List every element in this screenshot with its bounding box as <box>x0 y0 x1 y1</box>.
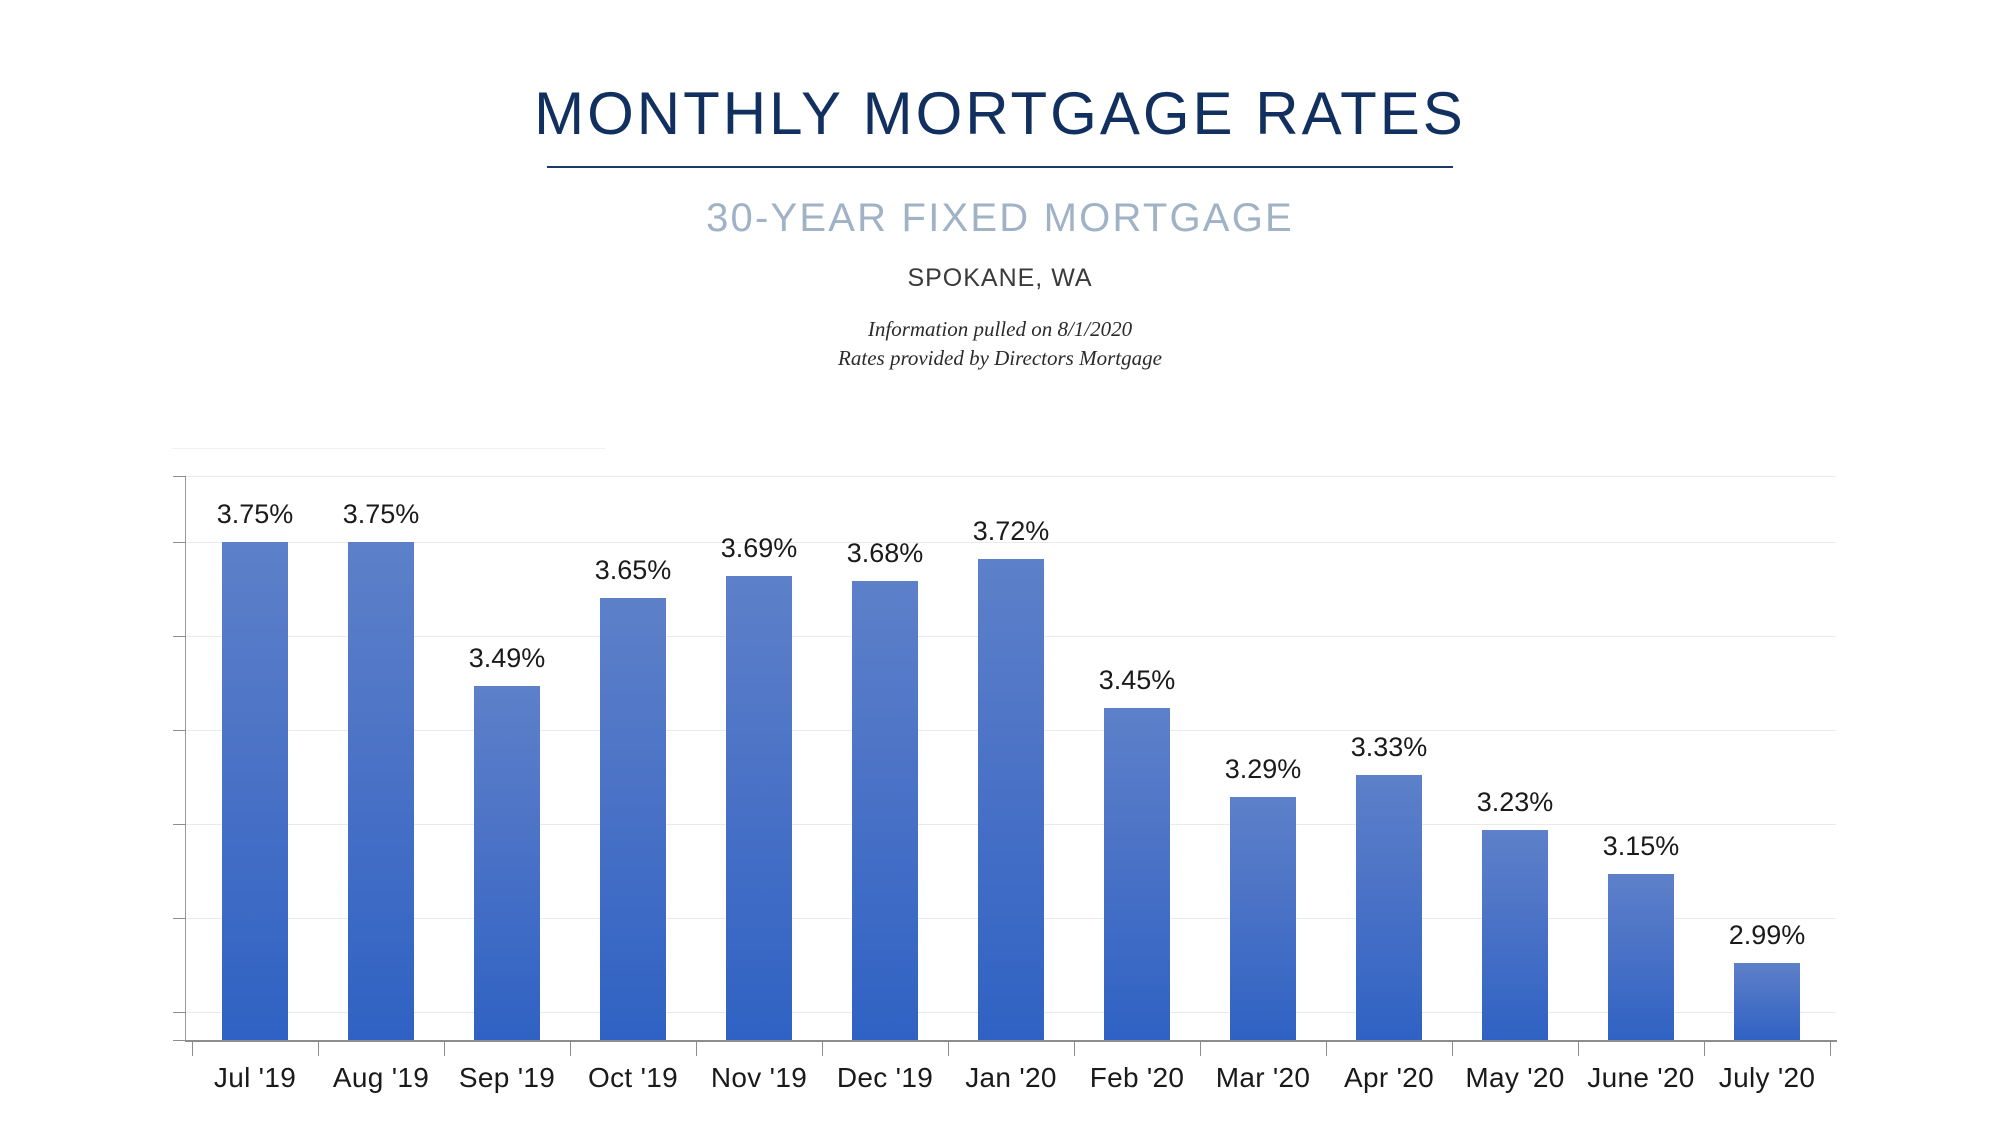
x-axis-tick <box>1452 1042 1453 1056</box>
x-axis-label: Apr '20 <box>1326 1062 1452 1094</box>
y-axis-tick <box>173 918 186 919</box>
bar-slot: 3.72% <box>948 476 1074 1040</box>
x-axis-label: Nov '19 <box>696 1062 822 1094</box>
bar-value-label: 3.45% <box>1099 665 1176 696</box>
bar-slot: 3.68% <box>822 476 948 1040</box>
x-axis-label: Mar '20 <box>1200 1062 1326 1094</box>
bar[interactable] <box>978 559 1044 1040</box>
bar[interactable] <box>348 542 414 1040</box>
location-label: SPOKANE, WA <box>0 266 2000 291</box>
y-axis-tick <box>173 1012 186 1013</box>
bar[interactable] <box>1482 830 1548 1040</box>
bar[interactable] <box>726 576 792 1040</box>
bar[interactable] <box>222 542 288 1040</box>
bar-slot: 3.29% <box>1200 476 1326 1040</box>
x-axis-tick <box>192 1042 193 1056</box>
x-axis-label: Jul '19 <box>192 1062 318 1094</box>
x-axis-tick <box>696 1042 697 1056</box>
x-axis-label: Feb '20 <box>1074 1062 1200 1094</box>
bar-value-label: 3.75% <box>217 499 294 530</box>
bar-value-label: 3.72% <box>973 516 1050 547</box>
bar[interactable] <box>1230 797 1296 1040</box>
bar[interactable] <box>474 686 540 1040</box>
x-axis-label: Jan '20 <box>948 1062 1074 1094</box>
bar-value-label: 3.69% <box>721 533 798 564</box>
decorative-rule <box>172 448 606 449</box>
x-axis-tick <box>444 1042 445 1056</box>
bar-value-label: 3.29% <box>1225 754 1302 785</box>
bar-slot: 3.75% <box>192 476 318 1040</box>
bar-value-label: 3.33% <box>1351 732 1428 763</box>
bar[interactable] <box>1608 874 1674 1040</box>
x-axis-label: Aug '19 <box>318 1062 444 1094</box>
bar-value-label: 3.75% <box>343 499 420 530</box>
x-axis-tick <box>1074 1042 1075 1056</box>
bar[interactable] <box>600 598 666 1040</box>
bar-slot: 3.75% <box>318 476 444 1040</box>
x-axis-label: July '20 <box>1704 1062 1830 1094</box>
source-note-block: Information pulled on 8/1/2020 Rates pro… <box>0 315 2000 373</box>
x-axis-labels: Jul '19Aug '19Sep '19Oct '19Nov '19Dec '… <box>186 1062 1836 1094</box>
page-title: MONTHLY MORTGAGE RATES <box>0 84 2000 144</box>
x-axis-tick <box>1830 1042 1831 1056</box>
x-axis-label: Sep '19 <box>444 1062 570 1094</box>
y-axis-tick <box>173 824 186 825</box>
bar-value-label: 3.65% <box>595 555 672 586</box>
x-axis-label: May '20 <box>1452 1062 1578 1094</box>
x-axis-tick <box>1200 1042 1201 1056</box>
bar-slot: 3.45% <box>1074 476 1200 1040</box>
bar-value-label: 3.15% <box>1603 831 1680 862</box>
bar[interactable] <box>1356 775 1422 1040</box>
bar-slot: 3.15% <box>1578 476 1704 1040</box>
bar-chart: 3.75%3.75%3.49%3.65%3.69%3.68%3.72%3.45%… <box>0 440 2000 1142</box>
x-axis-tick <box>570 1042 571 1056</box>
x-axis-label: Dec '19 <box>822 1062 948 1094</box>
bar[interactable] <box>852 581 918 1040</box>
x-axis-tick <box>1326 1042 1327 1056</box>
bar-slot: 3.33% <box>1326 476 1452 1040</box>
bar-value-label: 3.68% <box>847 538 924 569</box>
bar-slot: 2.99% <box>1704 476 1830 1040</box>
y-axis-tick <box>173 476 186 477</box>
bar-value-label: 2.99% <box>1729 920 1806 951</box>
x-axis-tick <box>318 1042 319 1056</box>
chart-header: MONTHLY MORTGAGE RATES 30-YEAR FIXED MOR… <box>0 0 2000 373</box>
x-axis-tick <box>948 1042 949 1056</box>
bar[interactable] <box>1734 963 1800 1040</box>
bar-slot: 3.65% <box>570 476 696 1040</box>
y-axis-tick <box>173 636 186 637</box>
source-note-pulled-date: Information pulled on 8/1/2020 <box>0 315 2000 344</box>
title-underline-rule <box>547 166 1453 168</box>
bar-value-label: 3.49% <box>469 643 546 674</box>
bar-value-label: 3.23% <box>1477 787 1554 818</box>
x-axis-tick <box>822 1042 823 1056</box>
bar[interactable] <box>1104 708 1170 1040</box>
x-axis-tick <box>1578 1042 1579 1056</box>
y-axis-tick <box>173 730 186 731</box>
source-note-provider: Rates provided by Directors Mortgage <box>0 344 2000 373</box>
x-axis-label: Oct '19 <box>570 1062 696 1094</box>
bar-slot: 3.23% <box>1452 476 1578 1040</box>
x-axis-ticks <box>186 1042 1836 1056</box>
bar-slot: 3.49% <box>444 476 570 1040</box>
plot-area: 3.75%3.75%3.49%3.65%3.69%3.68%3.72%3.45%… <box>186 476 1836 1040</box>
chart-subtitle: 30-YEAR FIXED MORTGAGE <box>0 198 2000 238</box>
x-axis-tick <box>1704 1042 1705 1056</box>
bar-series: 3.75%3.75%3.49%3.65%3.69%3.68%3.72%3.45%… <box>186 476 1836 1040</box>
x-axis-label: June '20 <box>1578 1062 1704 1094</box>
bar-slot: 3.69% <box>696 476 822 1040</box>
y-axis-tick <box>173 542 186 543</box>
